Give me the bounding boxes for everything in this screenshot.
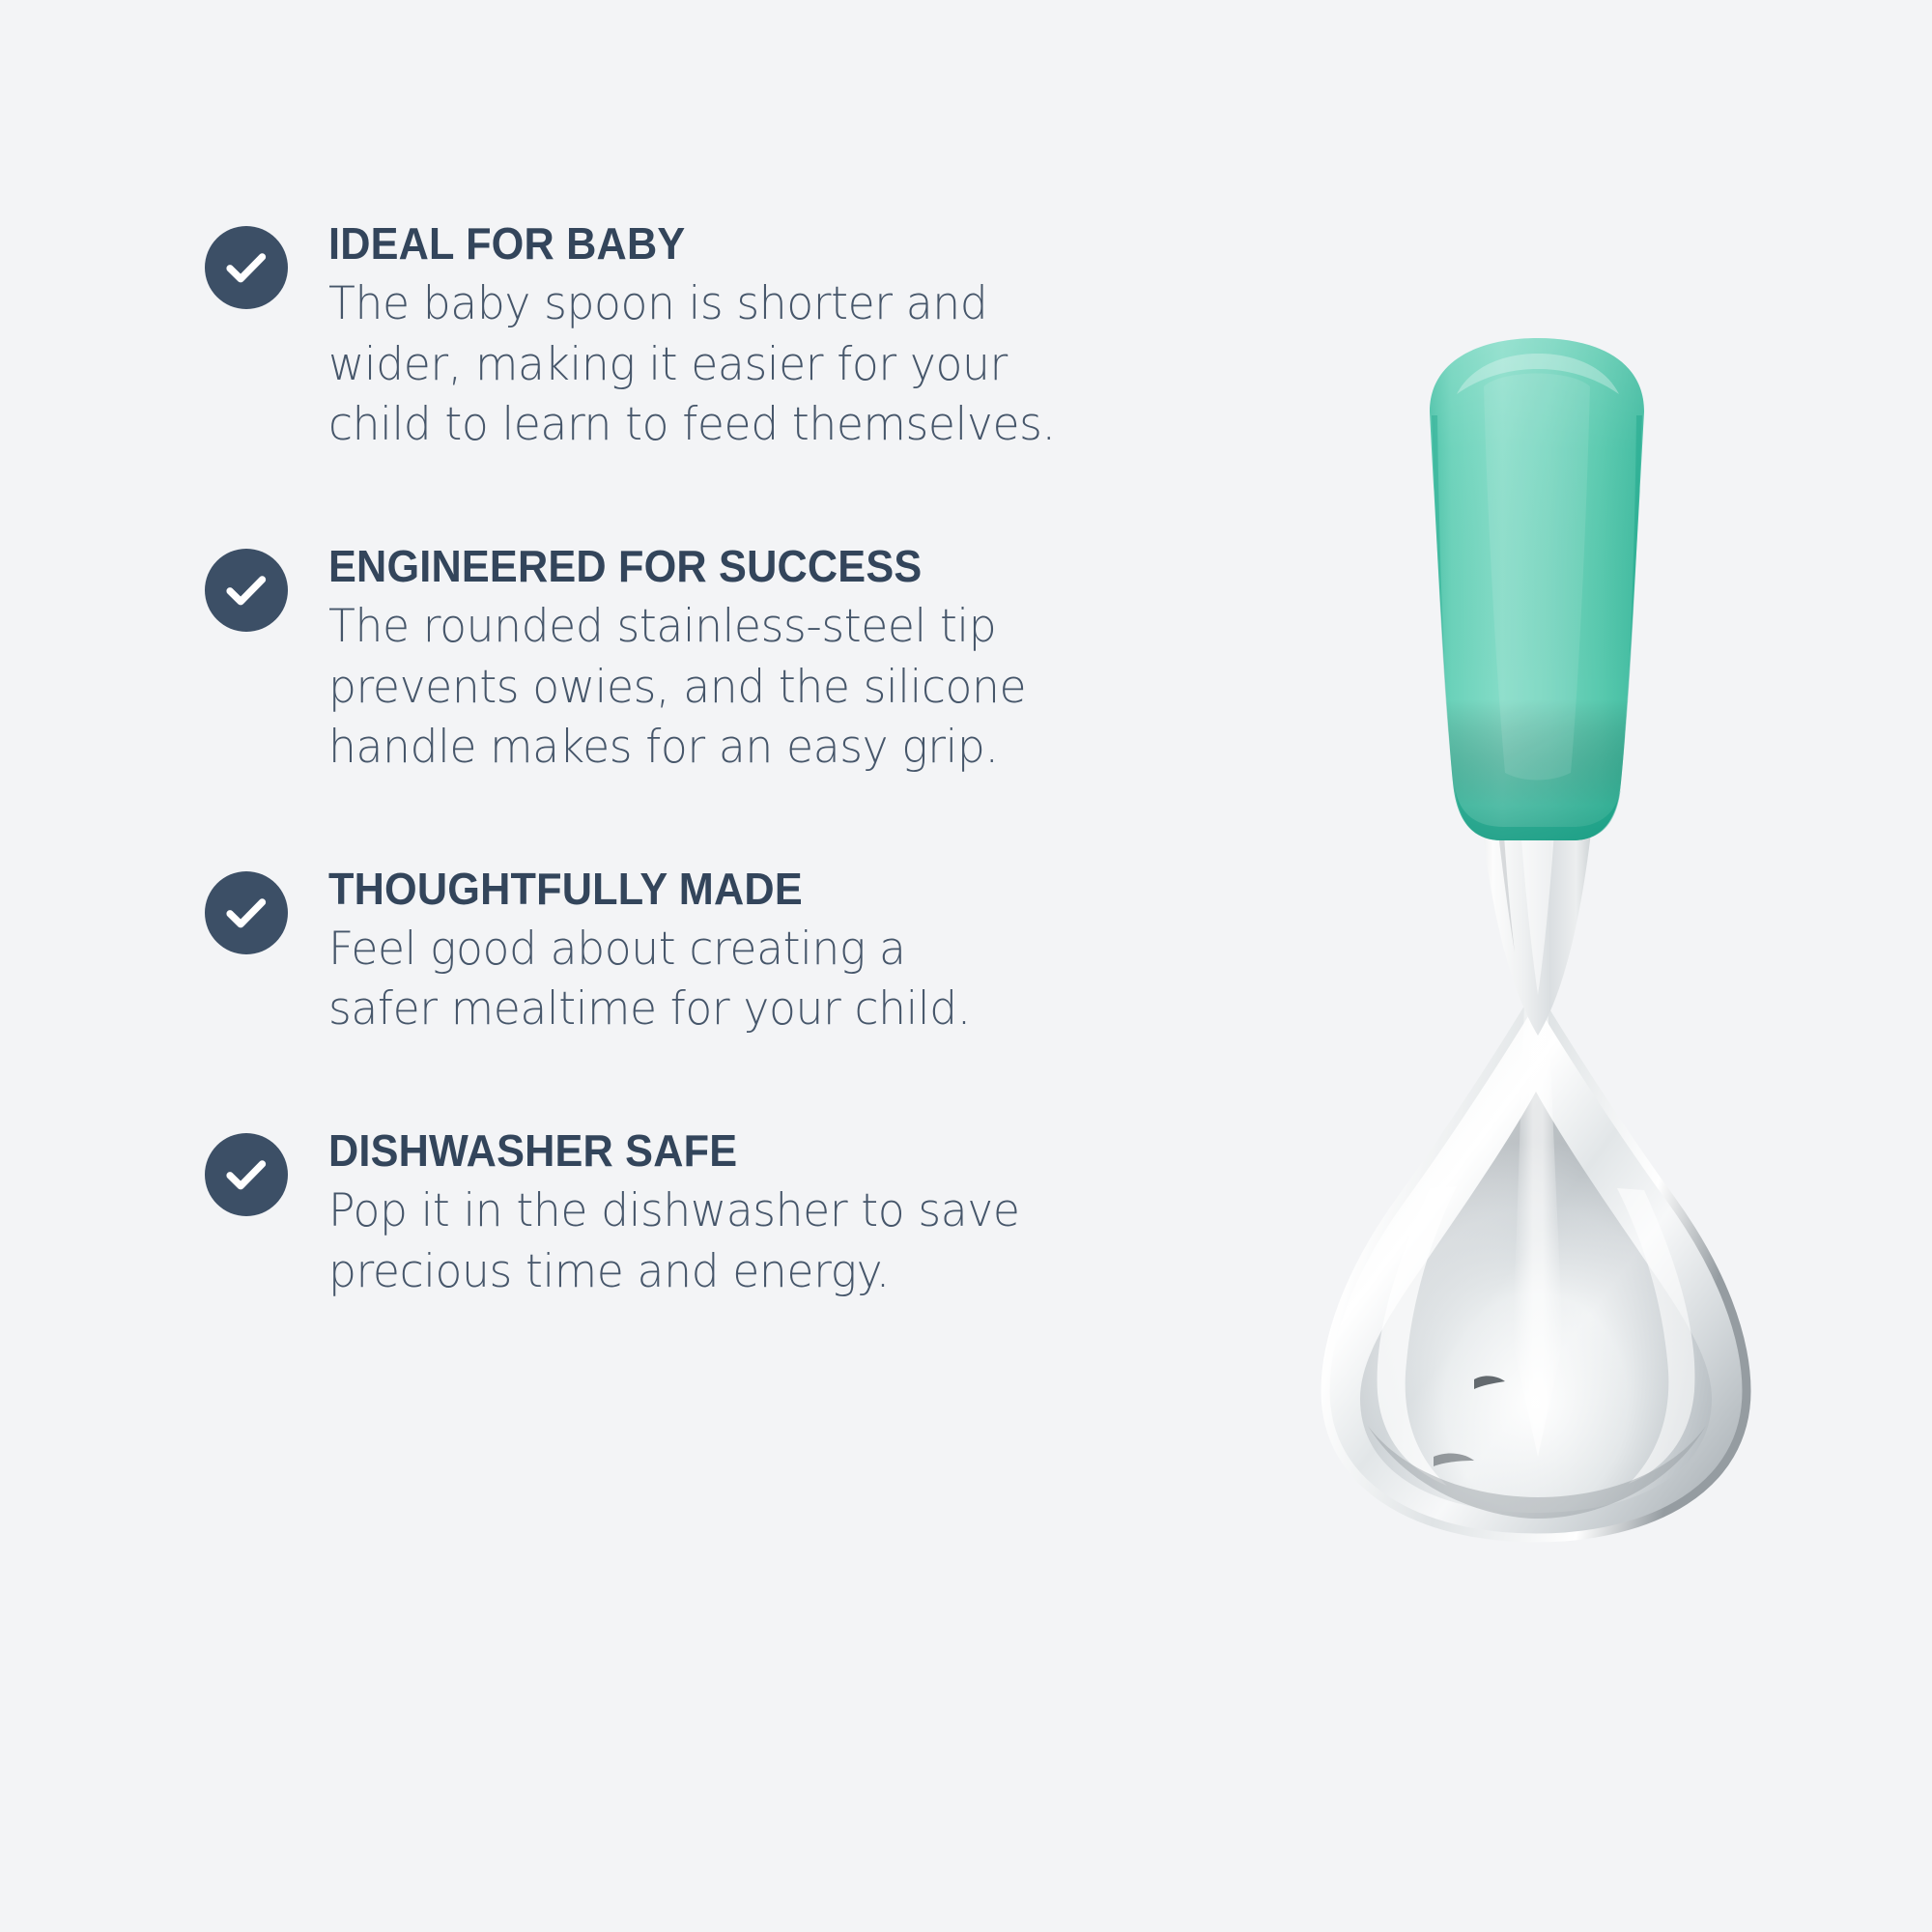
feature-title: THOUGHTFULLY MADE [328,866,1121,912]
feature-title: ENGINEERED FOR SUCCESS [328,543,1121,589]
feature-body: The baby spoon is shorter and wider, mak… [328,274,1146,456]
feature-body-line: child to learn to feed themselves. [328,395,1146,456]
spoon-bowl [1325,995,1747,1538]
feature-body-line: Pop it in the dishwasher to save [328,1181,1146,1242]
feature-body-line: precious time and energy. [328,1242,1146,1303]
feature-body-line: The baby spoon is shorter and [328,274,1146,335]
product-feature-panel: IDEAL FOR BABY The baby spoon is shorter… [0,0,1932,1932]
feature-body: Feel good about creating a safer mealtim… [328,920,1146,1040]
check-circle-icon [205,871,288,954]
feature-title: IDEAL FOR BABY [328,220,1121,267]
feature-body-line: wider, making it easier for your [328,335,1146,396]
feature-body: The rounded stainless-steel tip prevents… [328,597,1146,779]
check-circle-icon [205,1133,288,1216]
feature-item-dishwasher-safe: DISHWASHER SAFE Pop it in the dishwasher… [205,1127,1171,1302]
feature-item-thoughtfully-made: THOUGHTFULLY MADE Feel good about creati… [205,866,1171,1040]
feature-body-line: prevents owies, and the silicone [328,658,1146,719]
feature-body-line: safer mealtime for your child. [328,980,1146,1040]
feature-title: DISHWASHER SAFE [328,1127,1121,1174]
baby-spoon-photo [1285,319,1787,1555]
feature-item-ideal-for-baby: IDEAL FOR BABY The baby spoon is shorter… [205,220,1171,456]
feature-body-line: Feel good about creating a [328,920,1146,980]
feature-list: IDEAL FOR BABY The baby spoon is shorter… [205,220,1171,1302]
feature-body-line: The rounded stainless-steel tip [328,597,1146,658]
feature-body: Pop it in the dishwasher to save preciou… [328,1181,1146,1302]
check-circle-icon [205,549,288,632]
feature-body-line: handle makes for an easy grip. [328,718,1146,779]
check-circle-icon [205,226,288,309]
feature-item-engineered-for-success: ENGINEERED FOR SUCCESS The rounded stain… [205,543,1171,779]
spoon-handle [1430,338,1644,840]
